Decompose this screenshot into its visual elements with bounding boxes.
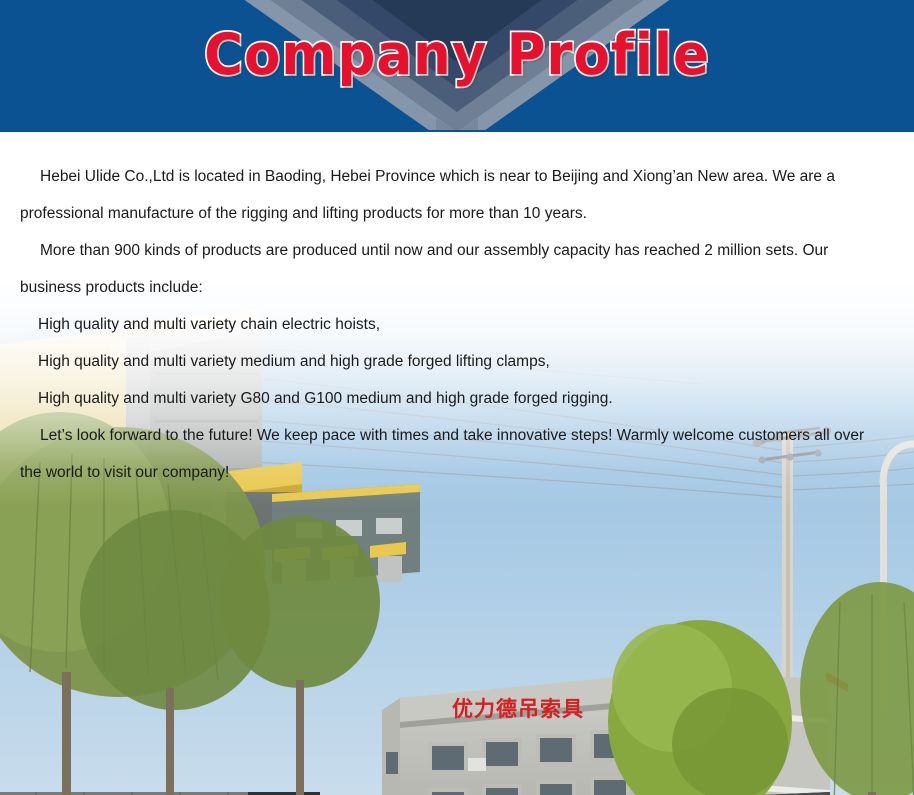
header-banner: Company Profile: [0, 0, 914, 132]
product-list-item: High quality and multi variety chain ele…: [0, 306, 914, 343]
rooftop-sign: 优力德吊索具: [452, 697, 584, 721]
company-profile-text: Hebei Ulide Co.,Ltd is located in Baodin…: [0, 132, 914, 491]
product-list-item: High quality and multi variety G80 and G…: [0, 380, 914, 417]
svg-text:优力德吊索具: 优力德吊索具: [452, 697, 584, 721]
profile-paragraph-1: Hebei Ulide Co.,Ltd is located in Baodin…: [0, 158, 914, 232]
product-list-item: High quality and multi variety medium an…: [0, 343, 914, 380]
profile-paragraph-3: Let’s look forward to the future! We kee…: [0, 417, 914, 491]
product-list: High quality and multi variety chain ele…: [0, 306, 914, 417]
page-title: Company Profile: [32, 22, 882, 88]
profile-paragraph-2: More than 900 kinds of products are prod…: [0, 232, 914, 306]
